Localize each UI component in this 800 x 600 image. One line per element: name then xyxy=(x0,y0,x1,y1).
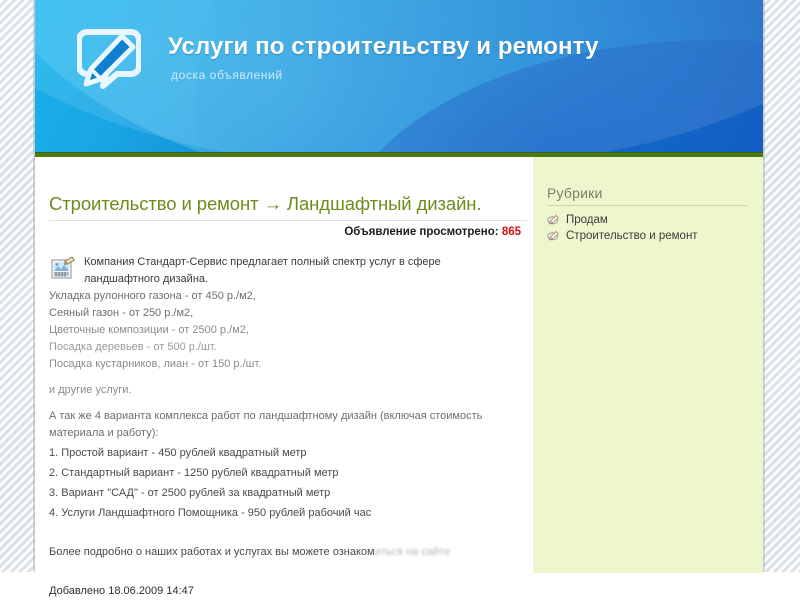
right-margin-strip xyxy=(763,0,800,572)
ad-line: 1. Простой вариант - 450 рублей квадратн… xyxy=(49,445,513,462)
sidebar-item-stroitelstvo-i-remont[interactable]: Строительство и ремонт xyxy=(547,229,747,242)
views-counter: Объявление просмотрено: 865 xyxy=(35,226,521,238)
site-subtitle: доска объявлений xyxy=(171,68,283,82)
ad-closing-text: Более подробно о наших работах и услугах… xyxy=(49,546,375,558)
ad-body-text: Компания Стандарт-Сервис предлагает полн… xyxy=(35,238,533,600)
ad-closing-faded-tail: иться на сайте xyxy=(375,546,450,558)
ad-line: А так же 4 варианта комплекса работ по л… xyxy=(49,408,513,442)
ad-added-date: Добавлено 18.06.2009 14:47 xyxy=(49,583,513,600)
title-divider xyxy=(49,220,527,221)
body-wrapper: Строительство и ремонт → Ландшафтный диз… xyxy=(35,157,763,573)
speech-bubble-pencil-icon xyxy=(77,26,141,90)
ad-line: 4. Услуги Ландшафтного Помощника - 950 р… xyxy=(49,505,513,522)
main-column: Строительство и ремонт → Ландшафтный диз… xyxy=(35,157,533,573)
pencil-tag-icon xyxy=(547,213,560,226)
ad-line: 2. Стандартный вариант - 1250 рублей ква… xyxy=(49,465,513,482)
ad-line: Сеяный газон - от 250 р./м2, xyxy=(49,305,513,322)
banner-sheen xyxy=(35,0,763,152)
sidebar-item-label: Строительство и ремонт xyxy=(566,230,698,242)
page-content: Услуги по строительству и ремонту доска … xyxy=(35,0,763,572)
ad-line: Компания Стандарт-Сервис предлагает полн… xyxy=(49,254,513,288)
sidebar-inner: Рубрики Продам xyxy=(533,157,763,242)
ad-line: Посадка деревьев - от 500 р./шт. xyxy=(49,339,513,356)
sidebar-divider xyxy=(547,205,747,206)
site-header-banner: Услуги по строительству и ремонту доска … xyxy=(35,0,763,152)
sidebar: Рубрики Продам xyxy=(533,157,763,573)
pencil-tag-icon xyxy=(547,229,560,242)
ad-line: и другие услуги. xyxy=(49,382,513,399)
ad-title: Строительство и ремонт → Ландшафтный диз… xyxy=(35,157,533,215)
page-viewport: Услуги по строительству и ремонту доска … xyxy=(0,0,800,572)
sidebar-heading: Рубрики xyxy=(547,185,747,201)
ad-line: Цветочные композиции - от 2500 р./м2, xyxy=(49,322,513,339)
sidebar-item-label: Продам xyxy=(566,214,608,226)
views-count: 865 xyxy=(502,226,521,238)
ad-line: Посадка кустарников, лиан - от 150 р./шт… xyxy=(49,356,513,373)
sidebar-item-prodam[interactable]: Продам xyxy=(547,213,747,226)
ad-closing-line: Более подробно о наших работах и услугах… xyxy=(49,544,513,561)
left-margin-strip xyxy=(0,0,35,572)
ad-line: Укладка рулонного газона - от 450 р./м2, xyxy=(49,288,513,305)
site-title: Услуги по строительству и ремонту xyxy=(168,33,599,61)
views-label: Объявление просмотрено: xyxy=(344,226,498,238)
ad-line: 3. Вариант "САД" - от 2500 рублей за ква… xyxy=(49,485,513,502)
broken-image-icon xyxy=(51,256,75,279)
